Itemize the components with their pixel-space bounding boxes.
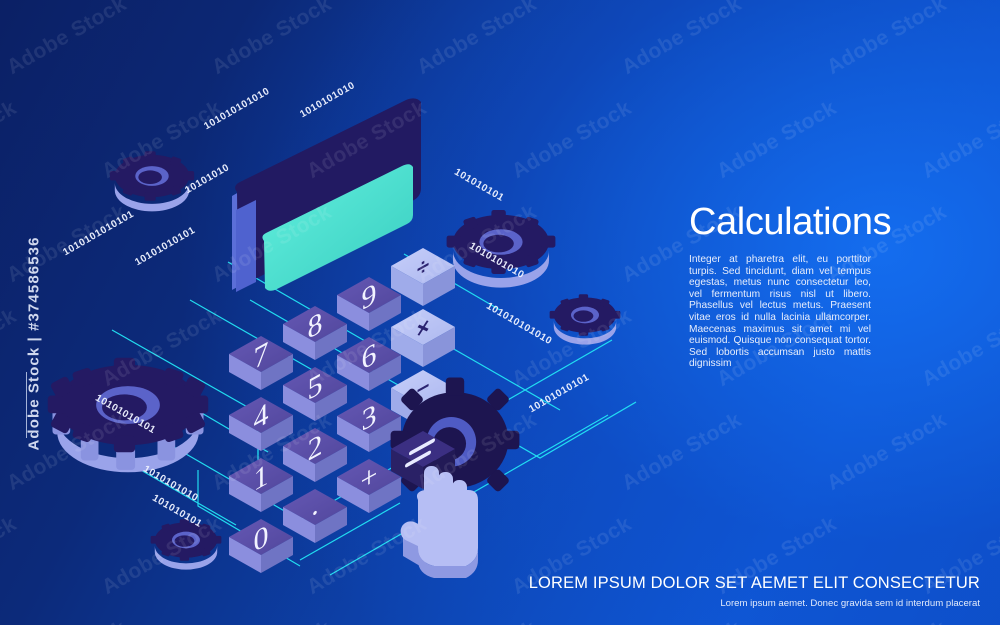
footer-subtext: Lorem ipsum aemet. Donec gravida sem id … <box>470 598 980 609</box>
watermark-text: Adobe Stock <box>713 96 841 184</box>
illustration-canvas: 9 8 7 <box>0 0 1000 625</box>
footer-heading: LOREM IPSUM DOLOR SET AEMET ELIT CONSECT… <box>470 574 980 593</box>
key-2[interactable]: 2 <box>283 426 347 482</box>
watermark-text: Adobe Stock <box>823 408 951 496</box>
gear-small-bottom-left <box>151 519 222 569</box>
stock-credit: Adobe Stock | #374586536 <box>2 0 36 625</box>
watermark-text: Adobe Stock <box>918 304 1000 392</box>
gear-small-upper-left <box>110 151 194 211</box>
calculator-display-unit <box>232 98 421 292</box>
page-title: Calculations <box>689 203 891 241</box>
footer-block: LOREM IPSUM DOLOR SET AEMET ELIT CONSECT… <box>470 574 980 609</box>
key-7[interactable]: 7 <box>229 334 293 390</box>
gear-small-right <box>550 294 621 344</box>
svg-text:.: . <box>311 485 319 523</box>
watermark-text: Adobe Stock <box>823 0 951 80</box>
key-0[interactable]: 0 <box>229 517 293 573</box>
isometric-calculator-illustration: 9 8 7 <box>0 0 640 625</box>
watermark-text: Adobe Stock <box>823 616 951 625</box>
stock-credit-text: Adobe Stock | #374586536 <box>26 151 43 451</box>
gear-right-upper <box>447 210 556 288</box>
key-4[interactable]: 4 <box>229 395 293 451</box>
credit-divider <box>26 372 27 438</box>
key-5[interactable]: 5 <box>283 365 347 421</box>
keypad-digits: 9 8 7 <box>229 275 401 573</box>
watermark-text: Adobe Stock <box>918 96 1000 184</box>
body-paragraph: Integer at pharetra elit, eu porttitor t… <box>689 254 871 370</box>
calculator-svg: 9 8 7 <box>0 0 640 625</box>
key-1[interactable]: 1 <box>229 456 293 512</box>
